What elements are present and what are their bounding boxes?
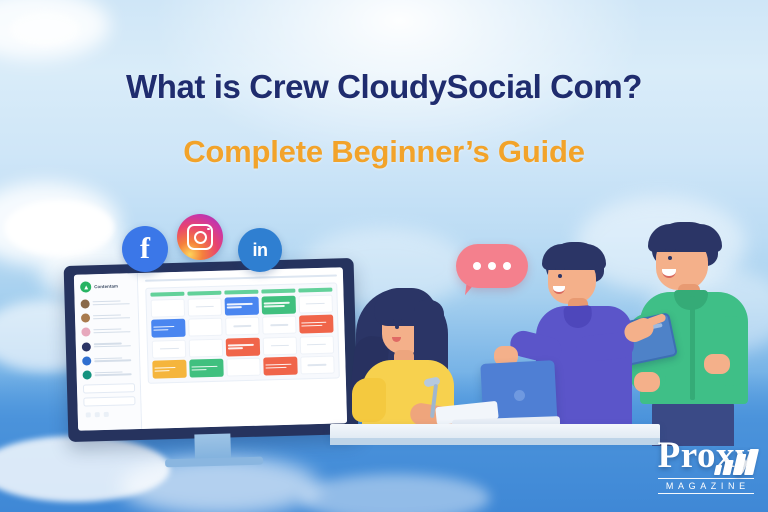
calendar-cell[interactable] [262,316,297,335]
calendar-cell[interactable] [262,336,297,355]
sleeve [352,378,386,422]
avatar [82,356,91,365]
calendar-post-card[interactable] [225,337,260,356]
calendar-grid[interactable] [151,294,335,379]
sidebar-contact-row[interactable] [81,327,133,337]
calendar-cell-stub [160,348,179,350]
instagram-camera-glyph [187,224,213,250]
sidebar-footer-dot[interactable] [104,412,109,417]
sidebar-footer-dot[interactable] [95,412,100,417]
calendar-header-cell [261,288,296,293]
sidebar-button[interactable] [83,383,135,393]
facebook-icon[interactable]: f [122,226,168,272]
avatar [81,328,90,337]
calendar-cell[interactable] [188,318,223,337]
calendar-cell-stub [308,364,327,366]
facebook-glyph: f [140,232,150,266]
instagram-icon[interactable] [177,214,223,260]
dashboard-brand: Contentam [80,280,132,292]
sidebar-contact-row[interactable] [83,369,135,379]
leaf-logo-icon [80,281,91,292]
calendar-cell[interactable] [187,297,222,316]
dashboard-toolbar [145,274,337,281]
sidebar-contact-row[interactable] [81,298,133,308]
eye [668,256,672,260]
calendar-cell[interactable] [151,298,186,317]
linkedin-icon[interactable]: in [238,228,282,272]
sidebar-button[interactable] [83,396,135,406]
brand-logo-mark-icon [710,445,756,475]
eyebrow [393,319,402,321]
calendar-cell-stub [306,303,325,305]
avatar [83,370,92,379]
calendar-post-card[interactable] [261,295,296,314]
bubble-dot [473,262,481,270]
contact-text-lines [93,314,133,320]
desk-edge [330,438,660,445]
avatar [81,314,90,323]
calendar-cell[interactable] [226,358,261,377]
hair-top [648,224,722,252]
calendar-header-cell [224,289,258,294]
calendar-cell[interactable] [298,294,333,313]
avatar [81,299,90,308]
cloud [10,12,80,46]
calendar-header-cell [150,291,184,296]
laptop-logo [514,390,525,401]
sidebar-contact-row[interactable] [82,355,134,365]
sidebar-contact-row[interactable] [81,312,133,322]
calendar-post-card[interactable] [224,296,259,315]
calendar-post-card[interactable] [189,359,224,378]
calendar-cell[interactable] [152,339,187,358]
calendar-cell-stub [233,325,252,327]
page-subtitle: Complete Beginner’s Guide [0,134,768,170]
contact-text-lines [93,328,133,334]
calendar-header-cell [187,290,222,295]
contact-text-lines [94,357,134,363]
dashboard-brand-name: Contentam [94,284,118,290]
right-arm [714,316,748,386]
contact-text-lines [94,343,134,349]
calendar-header-cell [298,287,333,292]
calendar-post-card[interactable] [151,319,186,338]
eye [558,274,562,278]
linkedin-glyph: in [253,240,268,261]
page-title: What is Crew CloudySocial Com? [0,68,768,106]
featured-image-canvas: What is Crew CloudySocial Com? Complete … [0,0,768,512]
calendar-cell[interactable] [225,317,260,336]
brand-logo: Proxy MAGAZINE [658,437,754,494]
calendar-cell[interactable] [189,338,224,357]
eyebrow [665,249,676,251]
bubble-dot [503,262,511,270]
calendar-post-card[interactable] [263,357,298,376]
calendar-cell[interactable] [300,356,335,375]
desktop-monitor: Contentam [64,258,359,442]
calendar-cell-stub [307,344,326,346]
contact-text-lines [95,371,135,377]
calendar-cell-stub [270,324,289,326]
brand-logo-subtitle: MAGAZINE [658,478,754,494]
right-hand [704,354,730,374]
sidebar-footer-dot[interactable] [86,413,91,418]
bubble-dot [488,262,496,270]
sidebar-footer-actions[interactable] [84,411,136,417]
calendar-post-card[interactable] [152,360,187,379]
content-calendar[interactable] [145,282,340,384]
calendar-cell-stub [270,345,289,347]
calendar-cell-stub [195,306,214,308]
shirt-placket [690,296,695,400]
eyebrow [555,268,565,270]
avatar [82,342,91,351]
sidebar-contact-list[interactable] [81,298,135,379]
eye [395,325,399,329]
dashboard-main [138,267,347,429]
calendar-cell[interactable] [299,335,334,354]
calendar-post-card[interactable] [299,315,334,334]
dashboard-sidebar[interactable]: Contentam [74,273,142,431]
sidebar-contact-row[interactable] [82,341,134,351]
monitor-screen: Contentam [74,267,347,430]
hair-top [542,244,606,270]
contact-text-lines [93,300,133,306]
